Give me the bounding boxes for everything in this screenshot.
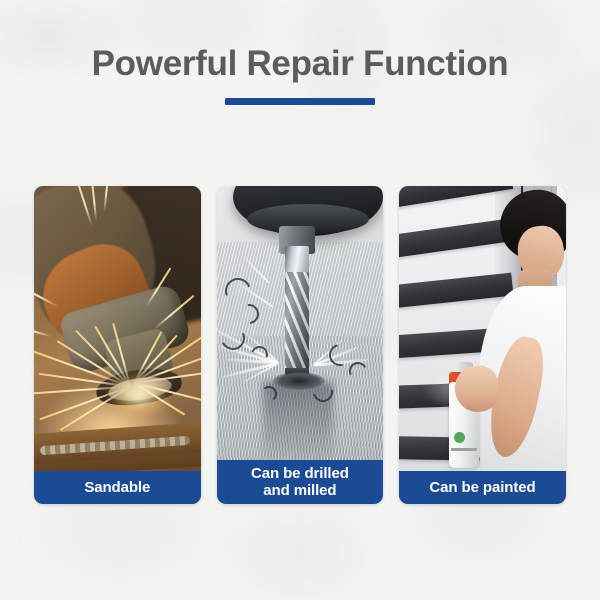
caption-line-1: Can be painted [429,479,535,496]
panel-caption-painted: Can be painted [399,471,566,504]
feature-panel-painted[interactable]: Can be painted [399,186,566,504]
metal-chips [217,186,384,504]
spark-streaks [34,186,201,504]
spray-painting-photo [399,186,566,504]
panel-caption-drilled-milled: Can be drilled and milled [217,460,384,504]
panel-caption-sandable: Sandable [34,471,201,504]
feature-panel-sandable[interactable]: Sandable [34,186,201,504]
feature-panel-row: Sandable [34,186,566,504]
feature-panel-drilled-milled[interactable]: Can be drilled and milled [217,186,384,504]
end-mill-drilling-photo [217,186,384,504]
grinder-sparks-photo [34,186,201,504]
page-title: Powerful Repair Function [0,42,600,86]
caption-line-1: Can be drilled [251,465,349,482]
caption-line-1: Sandable [84,479,150,496]
product-feature-card: Powerful Repair Function [0,0,600,600]
caption-line-2: and milled [251,482,349,499]
title-underline-rule [225,98,375,105]
header: Powerful Repair Function [0,42,600,105]
